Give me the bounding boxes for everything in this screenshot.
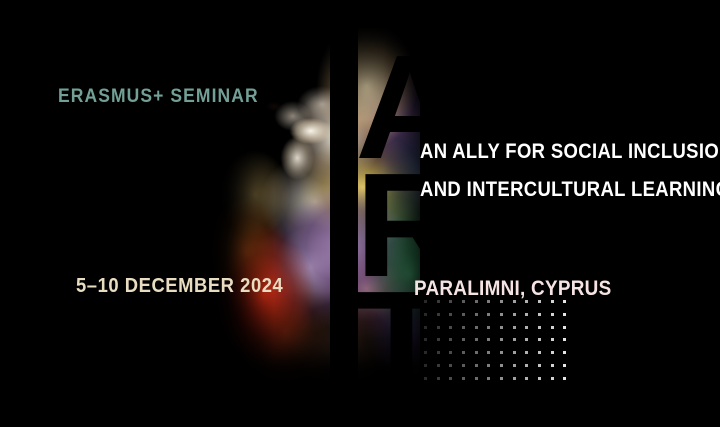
dot-grid-dot (424, 364, 437, 377)
dot-grid-dot (551, 351, 564, 364)
dot-grid-dot (449, 364, 462, 377)
dot-grid-dot (551, 377, 564, 390)
dot-grid-dot (538, 300, 551, 313)
dot-grid-dot (513, 300, 526, 313)
dot-grid-dot (538, 313, 551, 326)
dot-grid-dot (487, 364, 500, 377)
dot-grid-dot (500, 338, 513, 351)
dot-grid-dot (475, 338, 488, 351)
dot-grid-dot (449, 326, 462, 339)
dot-grid-dot (424, 300, 437, 313)
dot-grid-dot (500, 364, 513, 377)
dot-grid-dot (449, 313, 462, 326)
dot-grid-row (424, 351, 576, 364)
dot-grid-dot (437, 338, 450, 351)
dot-grid-dot (525, 313, 538, 326)
dot-grid-dot (462, 364, 475, 377)
dot-grid-dot (437, 364, 450, 377)
dot-grid-dot (551, 338, 564, 351)
dot-grid-row (424, 300, 576, 313)
dot-grid-dot (424, 338, 437, 351)
dot-grid-dot (449, 377, 462, 390)
dot-grid-dot (500, 313, 513, 326)
dot-grid-dot (563, 377, 576, 390)
dot-grid-dot (551, 364, 564, 377)
dot-grid-dot (563, 326, 576, 339)
dot-grid-dot (487, 338, 500, 351)
dot-grid-dot (538, 326, 551, 339)
dot-grid-row (424, 313, 576, 326)
dot-grid-dot (538, 377, 551, 390)
dot-grid-dot (563, 364, 576, 377)
dot-grid-dot (525, 338, 538, 351)
dot-grid-dot (487, 377, 500, 390)
dot-grid-dot (462, 338, 475, 351)
dot-grid-dot (551, 313, 564, 326)
event-date: 5–10 DECEMBER 2024 (76, 275, 283, 298)
dot-grid-dot (538, 364, 551, 377)
headline-line-2: AND INTERCULTURAL LEARNING (420, 179, 672, 200)
dot-grid-dot (437, 300, 450, 313)
dot-grid-dot (551, 300, 564, 313)
dot-grid-dot (487, 313, 500, 326)
dot-grid-dot (525, 364, 538, 377)
dot-grid-dot (462, 300, 475, 313)
dot-grid-dot (437, 313, 450, 326)
dot-grid-row (424, 326, 576, 339)
dot-grid-dot (487, 326, 500, 339)
poster-canvas: A R T ERASMUS+ SEMINAR AN ALLY FOR SOCIA… (0, 0, 720, 427)
dot-grid-row (424, 377, 576, 390)
dot-grid-dot (437, 326, 450, 339)
dot-grid-dot (500, 377, 513, 390)
dot-grid-decoration (424, 300, 576, 392)
art-title-stack: A R T (356, 34, 422, 390)
dot-grid-dot (462, 351, 475, 364)
dot-grid-dot (563, 338, 576, 351)
art-letter-t: T (355, 270, 422, 418)
dot-grid-row (424, 338, 576, 351)
dot-grid-dot (475, 300, 488, 313)
dot-grid-dot (513, 377, 526, 390)
dot-grid-dot (525, 300, 538, 313)
dot-grid-dot (449, 300, 462, 313)
dot-grid-dot (513, 313, 526, 326)
dot-grid-dot (500, 351, 513, 364)
dot-grid-dot (437, 377, 450, 390)
dot-grid-dot (513, 326, 526, 339)
dot-grid-dot (449, 351, 462, 364)
headline-block: AN ALLY FOR SOCIAL INCLUSION AND INTERCU… (420, 141, 706, 200)
dot-grid-dot (462, 326, 475, 339)
dot-grid-dot (500, 300, 513, 313)
dot-grid-dot (525, 351, 538, 364)
dot-grid-dot (475, 313, 488, 326)
dot-grid-dot (475, 377, 488, 390)
dot-grid-dot (475, 351, 488, 364)
dot-grid-dot (462, 377, 475, 390)
headline-line-1: AN ALLY FOR SOCIAL INCLUSION (420, 141, 672, 162)
erasmus-seminar-label: ERASMUS+ SEMINAR (58, 86, 259, 108)
dot-grid-dot (424, 377, 437, 390)
dot-grid-dot (525, 326, 538, 339)
dot-grid-dot (513, 351, 526, 364)
dot-grid-dot (551, 326, 564, 339)
dot-grid-dot (487, 300, 500, 313)
dot-grid-dot (424, 326, 437, 339)
dot-grid-dot (424, 351, 437, 364)
dot-grid-dot (462, 313, 475, 326)
dot-grid-dot (475, 364, 488, 377)
dot-grid-dot (424, 313, 437, 326)
dot-grid-dot (475, 326, 488, 339)
dot-grid-dot (563, 351, 576, 364)
event-location: PARALIMNI, CYPRUS (414, 277, 611, 301)
dot-grid-dot (500, 326, 513, 339)
dot-grid-dot (563, 313, 576, 326)
dot-grid-row (424, 364, 576, 377)
art-column-mask-left (330, 28, 358, 390)
dot-grid-dot (513, 364, 526, 377)
dot-grid-dot (538, 351, 551, 364)
dot-grid-dot (449, 338, 462, 351)
dot-grid-dot (538, 338, 551, 351)
dot-grid-dot (525, 377, 538, 390)
dot-grid-dot (563, 300, 576, 313)
dot-grid-dot (437, 351, 450, 364)
dot-grid-dot (513, 338, 526, 351)
dot-grid-dot (487, 351, 500, 364)
